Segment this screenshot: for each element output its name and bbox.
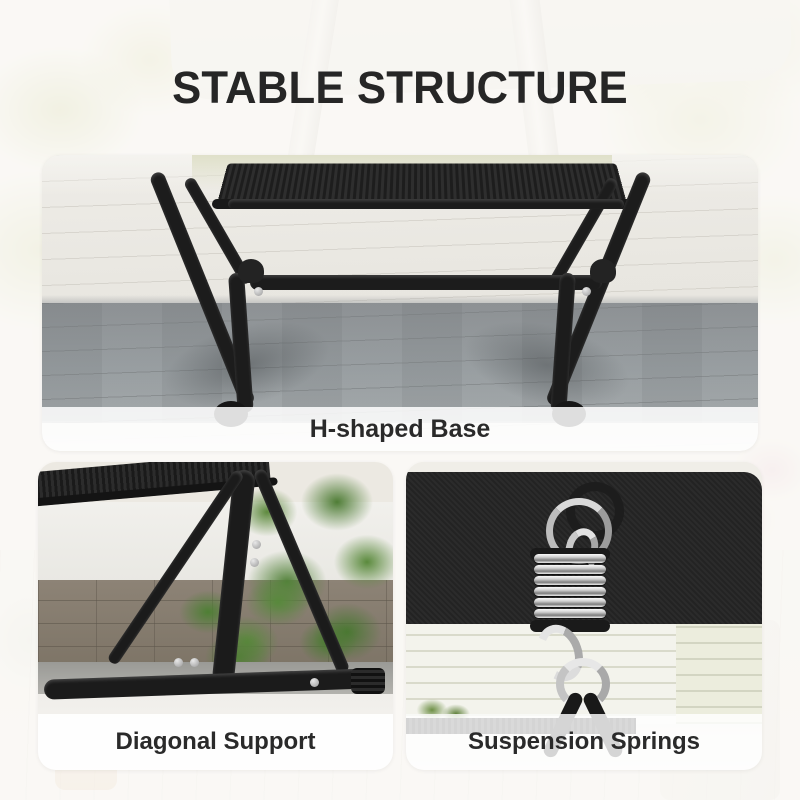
caption-text: Diagonal Support — [116, 728, 316, 756]
frame-joint-knob-left — [238, 259, 264, 283]
suspension-spring-coil — [534, 554, 606, 622]
caption-h-shaped-base: H-shaped Base — [42, 407, 758, 451]
frame-base-end-cap — [351, 668, 385, 694]
deck-dark-planks — [42, 303, 758, 423]
support-bolt-upper — [252, 540, 261, 549]
caption-suspension-springs: Suspension Springs — [406, 714, 762, 770]
feature-card-h-shaped-base[interactable]: H-shaped Base — [42, 155, 758, 451]
frame-upper-crossbar — [228, 199, 624, 209]
support-bolt-lower — [174, 658, 183, 667]
page-title: STABLE STRUCTURE — [12, 62, 788, 114]
frame-joint-knob-right — [590, 259, 616, 283]
support-bolt-mid — [250, 558, 259, 567]
frame-bolt-right — [582, 287, 591, 296]
feature-card-suspension-springs[interactable]: Suspension Springs — [406, 462, 762, 770]
base-joint-bolt — [310, 678, 319, 687]
caption-text: H-shaped Base — [310, 415, 491, 444]
caption-diagonal-support: Diagonal Support — [38, 714, 393, 770]
frame-bolt-left — [254, 287, 263, 296]
infographic-page: STABLE STRUCTURE — [0, 0, 800, 800]
frame-h-crossbar — [250, 275, 602, 290]
support-bolt-lower2 — [190, 658, 199, 667]
feature-card-diagonal-support[interactable]: Diagonal Support — [38, 462, 393, 770]
caption-text: Suspension Springs — [468, 728, 700, 756]
